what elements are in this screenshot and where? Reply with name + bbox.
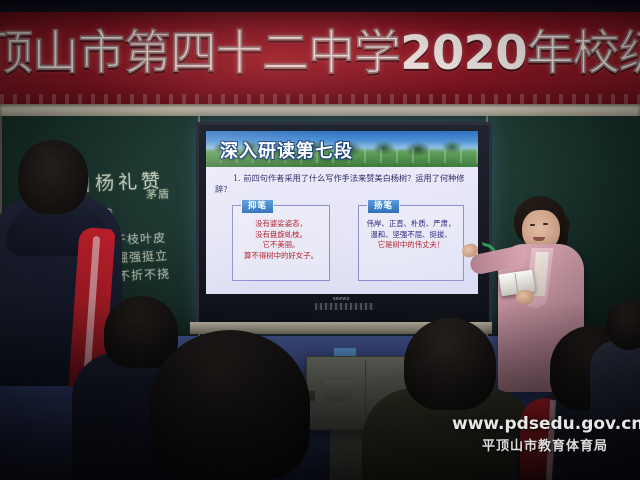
banner-fringe	[0, 94, 640, 104]
slide-question: 1. 前四句作者采用了什么写作手法来赞美白杨树？运用了何种修辞？	[215, 173, 471, 195]
chalk-note-4: 不折不挠	[118, 265, 171, 285]
lectern-basket-motif	[323, 379, 355, 403]
slide-header-photo: 深入研读第七段	[206, 131, 478, 167]
banner-title: 顶山市第四十二中学2020年校级优质课大	[0, 26, 640, 82]
slide-body: 1. 前四句作者采用了什么写作手法来赞美白杨树？运用了何种修辞？ 抑笔 没有婆娑…	[206, 167, 478, 294]
yangbi-line-3: 它是树中的伟丈夫！	[362, 240, 460, 251]
teacher-holding-hand	[516, 290, 534, 304]
slide-title: 深入研读第七段	[220, 137, 353, 163]
student-front-center-head	[150, 330, 310, 480]
smart-board-logo: seewo	[333, 296, 350, 302]
yibi-line-3: 它不美丽。	[236, 240, 326, 251]
yangbi-line-2: 温和、坚强不屈、挺拔、	[362, 230, 460, 241]
chalk-note-3: 倔强挺立	[116, 247, 169, 267]
classroom-photo: 顶山市第四十二中学2020年校级优质课大 白杨礼赞 茅盾 借物咏情 干枝叶皮 倔…	[0, 0, 640, 480]
answer-box-yangbi-lines: 伟岸、正直、朴质、严肃， 温和、坚强不屈、挺拔、 它是树中的伟丈夫！	[362, 219, 460, 251]
student-center-right-head	[404, 318, 496, 410]
answer-box-yangbi: 扬笔 伟岸、正直、朴质、严肃， 温和、坚强不屈、挺拔、 它是树中的伟丈夫！	[358, 205, 464, 281]
lectern-knob	[309, 391, 315, 401]
smart-board[interactable]: 深入研读第七段 1. 前四句作者采用了什么写作手法来赞美白杨树？运用了何种修辞？…	[196, 122, 492, 330]
answer-box-yangbi-tag: 扬笔	[367, 199, 400, 214]
smart-board-controls[interactable]	[315, 303, 375, 310]
answer-box-yibi-tag: 抑笔	[241, 199, 274, 214]
teacher-eye-right	[543, 223, 548, 225]
yangbi-line-1: 伟岸、正直、朴质、严肃，	[362, 219, 460, 230]
yibi-line-4: 算不得树中的好女子。	[236, 251, 326, 262]
answer-box-yibi-lines: 没有婆娑姿态， 没有盘旋虬枝。 它不美丽。 算不得树中的好女子。	[236, 219, 326, 261]
lectern-seam	[365, 361, 366, 425]
event-banner: 顶山市第四十二中学2020年校级优质课大	[0, 12, 640, 104]
yibi-line-2: 没有盘旋虬枝。	[236, 230, 326, 241]
teacher-eye-left	[530, 224, 535, 226]
student-standing-left-head	[18, 140, 88, 214]
yibi-line-1: 没有婆娑姿态，	[236, 219, 326, 230]
chalk-author: 茅盾	[146, 186, 171, 203]
slide-answer-boxes: 抑笔 没有婆娑姿态， 没有盘旋虬枝。 它不美丽。 算不得树中的好女子。 扬笔 伟…	[206, 199, 478, 291]
answer-box-yibi: 抑笔 没有婆娑姿态， 没有盘旋虬枝。 它不美丽。 算不得树中的好女子。	[232, 205, 330, 281]
projection-screen: 深入研读第七段 1. 前四句作者采用了什么写作手法来赞美白杨树？运用了何种修辞？…	[206, 131, 478, 294]
student-far-right-body	[590, 340, 640, 420]
